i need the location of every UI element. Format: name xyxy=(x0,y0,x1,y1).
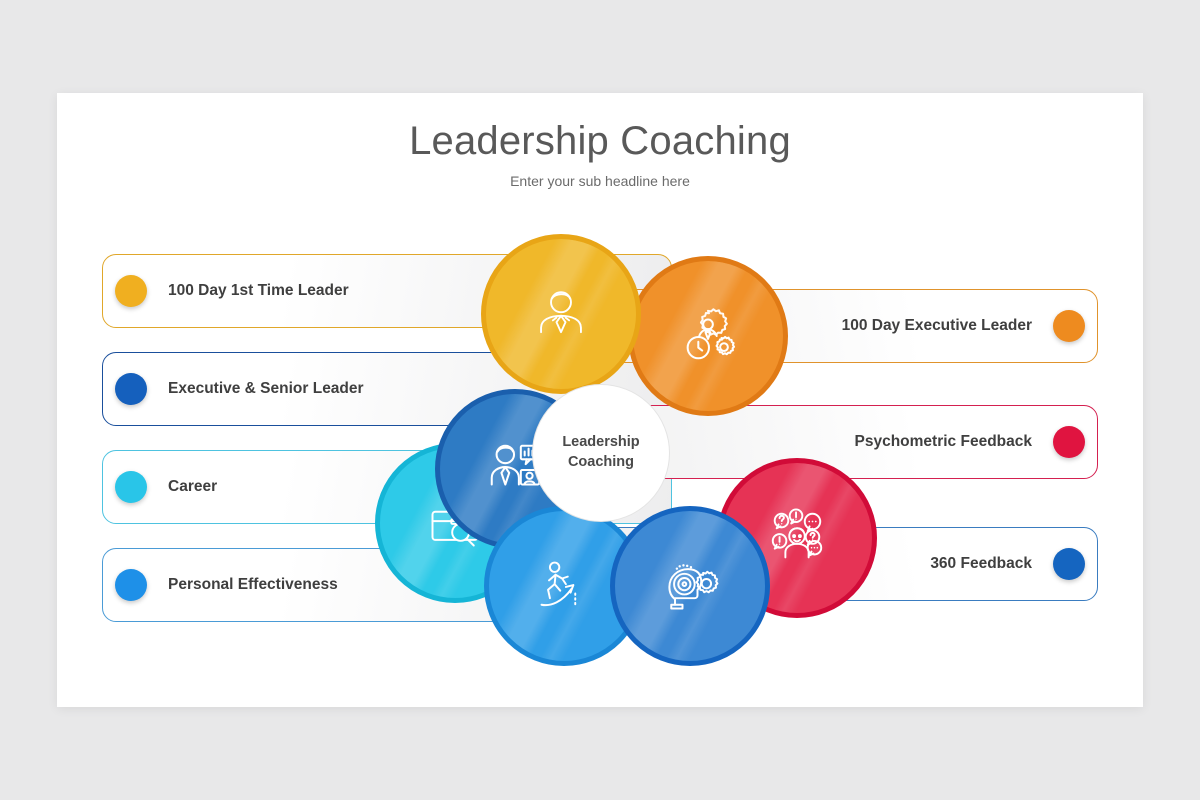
petal-360-feedback[interactable] xyxy=(610,506,770,666)
bullet-dot-orange xyxy=(1053,310,1085,342)
petal-100-day-1st-time-leader[interactable] xyxy=(481,234,641,394)
page-title: Leadership Coaching xyxy=(57,119,1143,164)
list-item-label: Psychometric Feedback xyxy=(855,433,1032,451)
list-item-label: 100 Day 1st Time Leader xyxy=(168,282,349,300)
bullet-dot-crimson xyxy=(1053,426,1085,458)
center-hub: Leadership Coaching xyxy=(532,384,670,522)
bullet-dot-navy xyxy=(115,373,147,405)
page-subtitle: Enter your sub headline here xyxy=(57,173,1143,189)
bullet-dot-amber xyxy=(115,275,147,307)
list-item-label: Career xyxy=(168,478,217,496)
head-target-gear-icon xyxy=(660,556,720,616)
list-item-label: Personal Effectiveness xyxy=(168,576,338,594)
gear-person-clock-icon xyxy=(677,305,739,367)
bullet-dot-azure xyxy=(115,569,147,601)
list-item-label: 360 Feedback xyxy=(930,555,1032,573)
bullet-dot-cyan xyxy=(115,471,147,503)
slide-card: Leadership Coaching Enter your sub headl… xyxy=(57,93,1143,707)
slide-root: Leadership Coaching Enter your sub headl… xyxy=(0,0,1200,800)
businessman-icon xyxy=(532,285,590,343)
list-item-label: 100 Day Executive Leader xyxy=(842,317,1032,335)
petal-100-day-executive-leader[interactable] xyxy=(628,256,788,416)
center-hub-label: Leadership Coaching xyxy=(562,433,639,472)
running-arrow-icon xyxy=(534,556,594,616)
bullet-dot-blue xyxy=(1053,548,1085,580)
feedback-bubbles-icon xyxy=(766,507,828,569)
list-item-label: Executive & Senior Leader xyxy=(168,380,364,398)
